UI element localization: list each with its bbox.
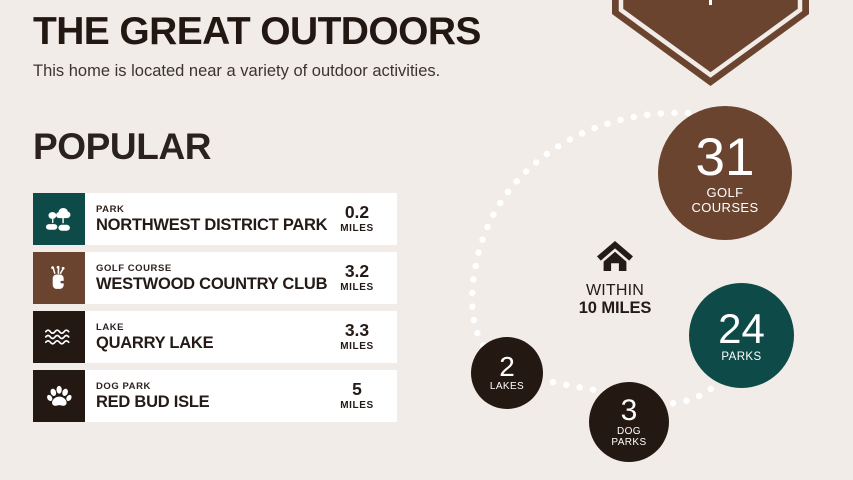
- stat-circle-golf-courses[interactable]: 31 GOLF COURSES: [658, 106, 792, 240]
- park-trees-icon: [33, 193, 85, 245]
- stat-label: LAKES: [490, 382, 524, 393]
- stat-count: 2: [499, 353, 515, 381]
- list-item-name: RED BUD ISLE: [96, 393, 330, 412]
- section-title-popular: POPULAR: [33, 128, 211, 165]
- distance-unit: MILES: [340, 340, 374, 353]
- stat-label-line2: PARKS: [611, 438, 646, 449]
- list-item-name: WESTWOOD COUNTRY CLUB: [96, 275, 330, 294]
- radius-label: 10 MILES: [552, 299, 678, 318]
- stat-count: 24: [718, 308, 765, 350]
- water-waves-icon: [33, 311, 85, 363]
- golf-bag-icon: [33, 252, 85, 304]
- stat-label: PARKS: [721, 351, 761, 363]
- list-item[interactable]: PARK NORTHWEST DISTRICT PARK 0.2 MILES: [33, 193, 397, 245]
- list-item[interactable]: DOG PARK RED BUD ISLE 5 MILES: [33, 370, 397, 422]
- list-item-distance: 3.2 MILES: [330, 262, 393, 294]
- popular-places-list: PARK NORTHWEST DISTRICT PARK 0.2 MILES: [33, 193, 397, 429]
- stat-label: DOG PARKS: [611, 427, 646, 449]
- stat-circle-dog-parks[interactable]: 3 DOG PARKS: [589, 382, 669, 462]
- list-item-category: LAKE: [96, 322, 330, 334]
- infographic-canvas: THE GREAT OUTDOORS This home is located …: [0, 0, 853, 480]
- distance-unit: MILES: [340, 399, 374, 412]
- stat-circle-parks[interactable]: 24 PARKS: [689, 283, 794, 388]
- list-item-category: GOLF COURSE: [96, 263, 330, 275]
- within-label: WITHIN: [552, 282, 678, 299]
- distance-value: 5: [352, 380, 362, 399]
- list-item-category: PARK: [96, 204, 330, 216]
- page-subtitle: This home is located near a variety of o…: [33, 62, 440, 81]
- home-icon: [552, 240, 678, 277]
- distance-unit: MILES: [340, 222, 374, 235]
- list-item-distance: 3.3 MILES: [330, 321, 393, 353]
- center-home-block: WITHIN 10 MILES: [552, 240, 678, 318]
- stat-count: 31: [696, 131, 755, 184]
- paw-print-icon: [33, 370, 85, 422]
- stat-label-line1: GOLF: [691, 186, 758, 200]
- stat-count: 3: [621, 396, 638, 426]
- stat-label: GOLF COURSES: [691, 186, 758, 214]
- distance-value: 0.2: [345, 203, 369, 222]
- distance-unit: MILES: [340, 281, 374, 294]
- list-item[interactable]: LAKE QUARRY LAKE 3.3 MILES: [33, 311, 397, 363]
- page-title: THE GREAT OUTDOORS: [33, 12, 481, 51]
- list-item-name: QUARRY LAKE: [96, 334, 330, 353]
- distance-value: 3.2: [345, 262, 369, 281]
- stat-label-line1: DOG: [611, 427, 646, 438]
- list-item-category: DOG PARK: [96, 381, 330, 393]
- list-item-distance: 5 MILES: [330, 380, 393, 412]
- list-item-name: NORTHWEST DISTRICT PARK: [96, 216, 330, 235]
- list-item[interactable]: GOLF COURSE WESTWOOD COUNTRY CLUB 3.2 MI…: [33, 252, 397, 304]
- stat-circle-lakes[interactable]: 2 LAKES: [471, 337, 543, 409]
- distance-value: 3.3: [345, 321, 369, 340]
- tree-badge-icon: [612, 0, 809, 86]
- stat-label-line2: COURSES: [691, 201, 758, 215]
- list-item-distance: 0.2 MILES: [330, 203, 393, 235]
